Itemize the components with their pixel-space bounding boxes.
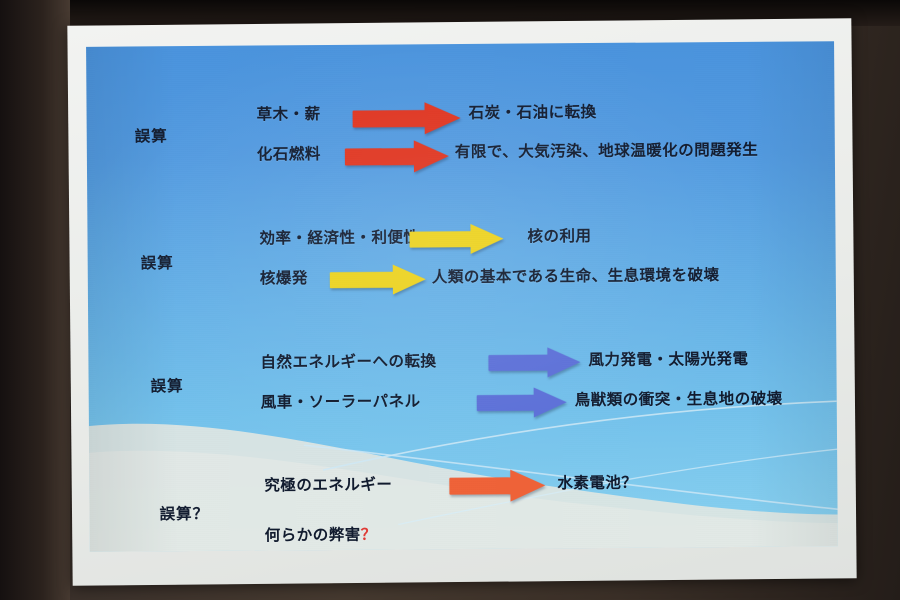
arrow-2-1 [409, 224, 503, 255]
group-label-3: 誤算 [151, 374, 184, 396]
target-text-3-1: 風力発電・太陽光発電 [588, 347, 748, 370]
source-text-3-1: 自然エネルギーへの転換 [260, 349, 436, 372]
photo-of-projected-slide: 誤算 草木・薪 石炭・石油に転換 化石燃料 有限で、大気汚染、地球温暖化の問題発… [0, 0, 900, 600]
arrow-1-2 [345, 140, 449, 173]
source-text-3-2: 風車・ソーラーパネル [261, 389, 421, 412]
slide-content: 誤算 草木・薪 石炭・石油に転換 化石燃料 有限で、大気汚染、地球温暖化の問題発… [86, 41, 838, 552]
group-label-4: 誤算？ [159, 502, 209, 524]
target-text-4-1: 水素電池？ [557, 471, 637, 494]
target-text-1-1: 石炭・石油に転換 [468, 100, 596, 123]
target-text-2-2: 人類の基本である生命、生息環境を破壊 [432, 263, 720, 287]
group-label-1: 誤算 [135, 124, 168, 146]
source-text-4-1: 究極のエネルギー [264, 473, 392, 496]
source-text-4-2: 何らかの弊害？ [265, 523, 377, 546]
arrow-4-1 [449, 469, 545, 502]
source-text-2-1: 効率・経済性・利便性 [259, 225, 419, 248]
group-label-2: 誤算 [141, 251, 174, 273]
source-text-2-2: 核爆発 [260, 266, 308, 288]
arrow-1-1 [352, 102, 460, 135]
presentation-slide: 誤算 草木・薪 石炭・石油に転換 化石燃料 有限で、大気汚染、地球温暖化の問題発… [86, 41, 838, 552]
arrow-2-2 [330, 264, 426, 295]
arrow-3-2 [477, 387, 567, 418]
source-text-1-1: 草木・薪 [256, 102, 320, 124]
question-mark-red: ？ [361, 526, 377, 544]
source-text-4-2-main: 何らかの弊害 [265, 526, 361, 545]
target-text-1-2: 有限で、大気汚染、地球温暖化の問題発生 [455, 138, 759, 162]
target-text-3-2: 鳥獣類の衝突・生息地の破壊 [575, 387, 783, 411]
projection-screen: 誤算 草木・薪 石炭・石油に転換 化石燃料 有限で、大気汚染、地球温暖化の問題発… [67, 18, 856, 586]
arrow-3-1 [488, 347, 580, 378]
source-text-1-2: 化石燃料 [257, 142, 321, 164]
wall-left-shadow [0, 0, 70, 600]
target-text-2-1: 核の利用 [527, 224, 591, 246]
